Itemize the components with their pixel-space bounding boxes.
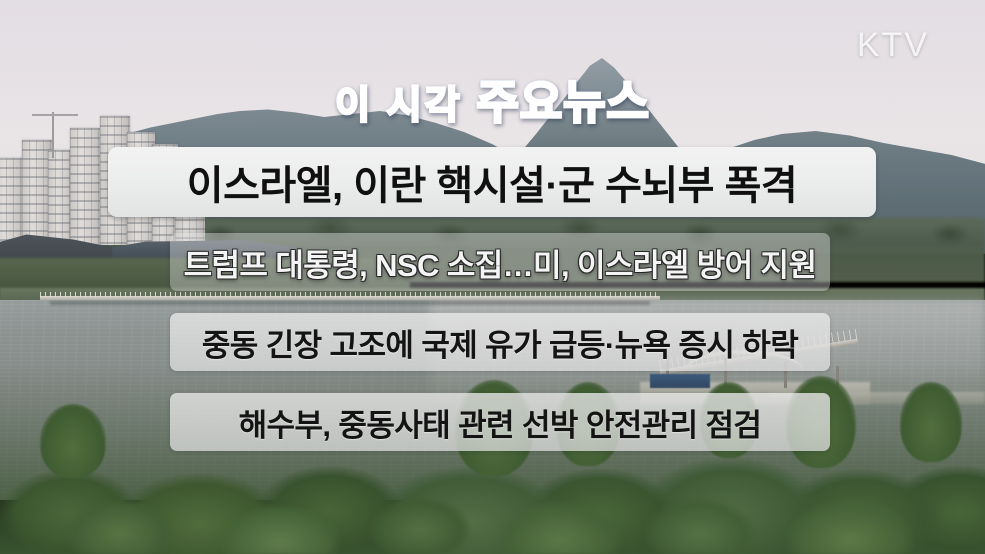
kicker-big-text: 주요뉴스 [477,79,650,125]
broadcast-screen: KTV 이 시각주요뉴스 이스라엘, 이란 핵시설·군 수뇌부 폭격 트럼프 대… [0,0,985,554]
bridge-railing [40,292,660,297]
kicker-small-text: 이 시각 [335,87,462,125]
tree [40,404,106,478]
lake-bridge [40,292,660,308]
bridge-shadow [50,301,650,305]
news-subline-3-text: 해수부, 중동사태 관련 선박 안전관리 점검 [239,400,762,445]
main-headline-text: 이스라엘, 이란 핵시설·군 수뇌부 폭격 [187,153,797,211]
apartment-tower [70,128,102,245]
news-subline-3: 해수부, 중동사태 관련 선박 안전관리 점검 [170,393,830,451]
program-kicker: 이 시각주요뉴스 [0,79,985,125]
news-subline-1: 트럼프 대통령, NSC 소집…미, 이스라엘 방어 지원 [170,233,830,291]
tree [900,382,962,462]
news-subline-1-text: 트럼프 대통령, NSC 소집…미, 이스라엘 방어 지원 [184,240,817,285]
ktv-channel-logo: KTV [857,26,929,65]
news-subline-2: 중동 긴장 고조에 국제 유가 급등·뉴욕 증시 하락 [170,313,830,371]
main-headline-box: 이스라엘, 이란 핵시설·군 수뇌부 폭격 [108,147,876,217]
news-subline-2-text: 중동 긴장 고조에 국제 유가 급등·뉴욕 증시 하락 [202,320,798,365]
